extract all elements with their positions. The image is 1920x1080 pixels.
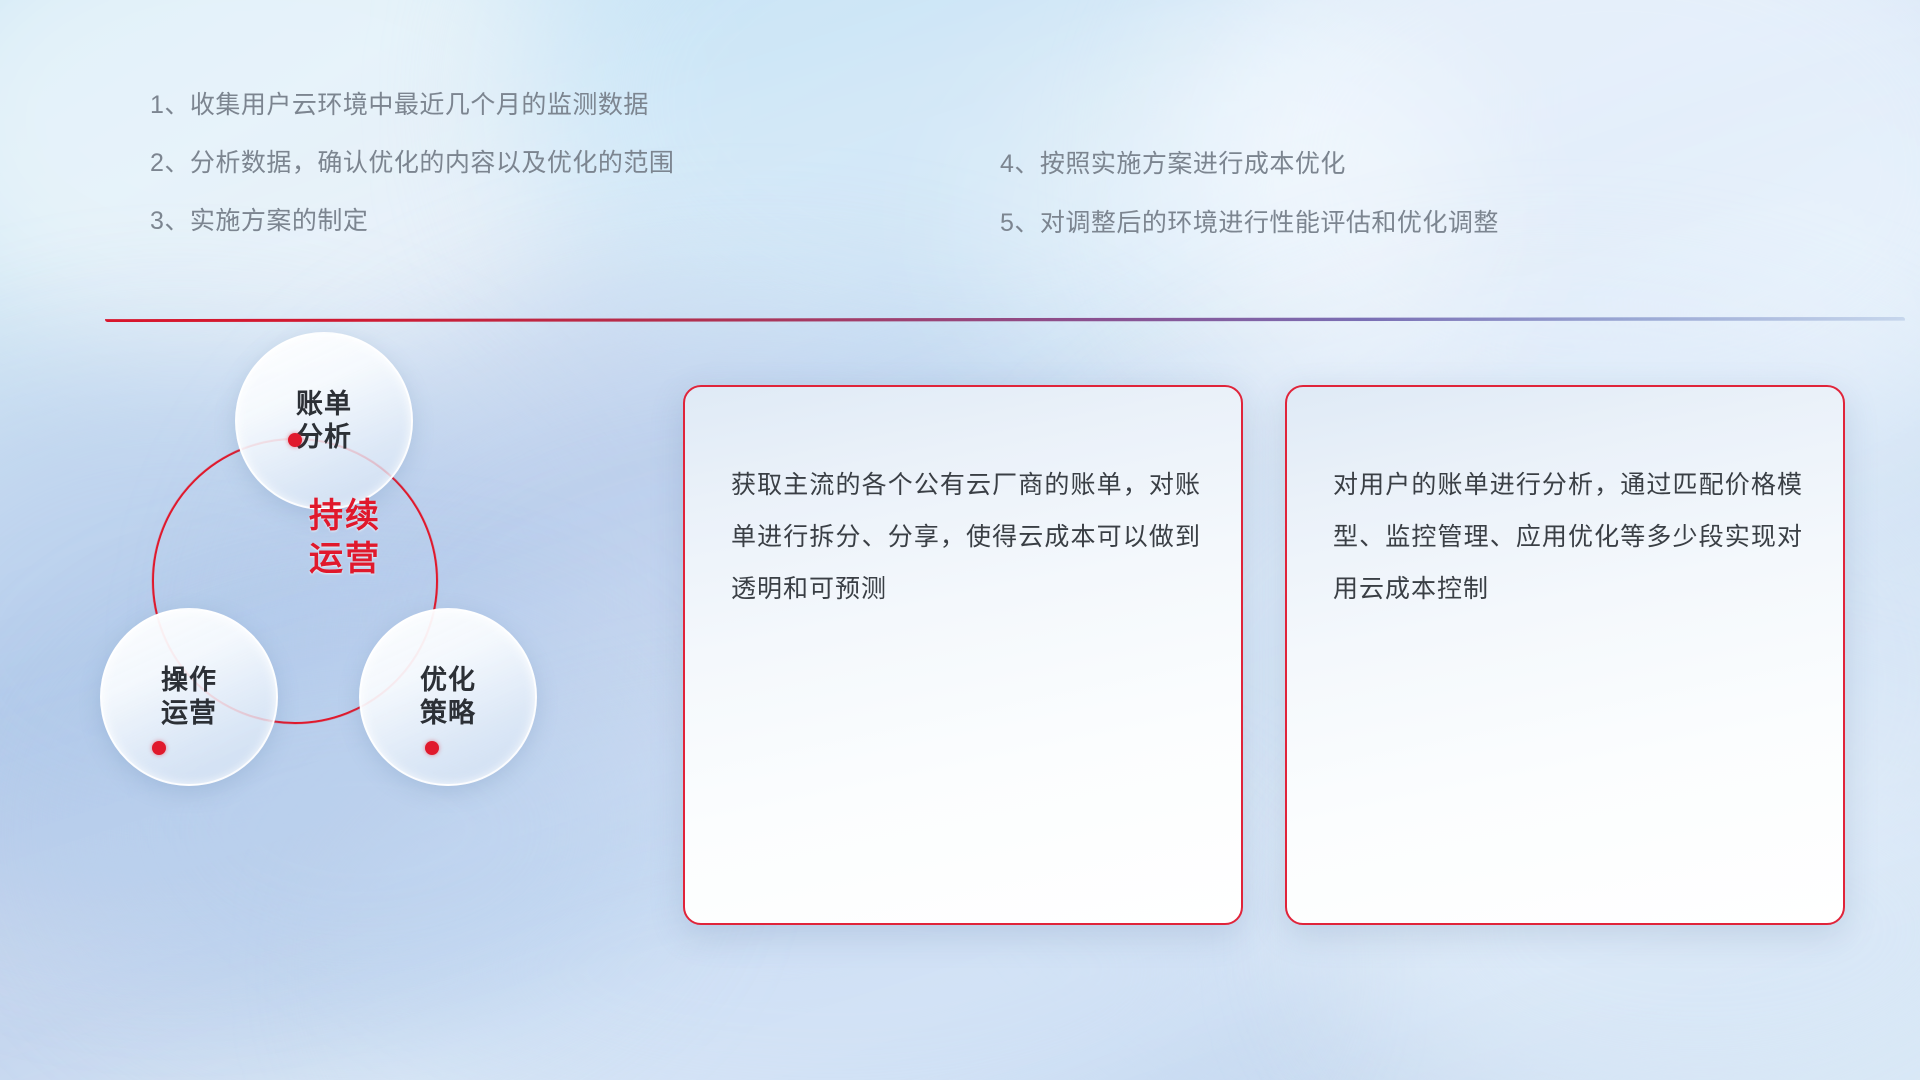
venn-bubble-top[interactable]: 账单 分析 [235, 332, 413, 510]
step-item: 4、按照实施方案进行成本优化 [1000, 152, 1499, 177]
step-item: 1、收集用户云环境中最近几个月的监测数据 [150, 93, 674, 118]
venn-bubble-label-line1: 优化 [420, 665, 476, 695]
step-item: 2、分析数据，确认优化的内容以及优化的范围 [150, 151, 674, 176]
card-multicloud-billing[interactable]: 获取主流的各个公有云厂商的账单，对账单进行拆分、分享，使得云成本可以做到透明和可… [683, 385, 1243, 925]
connector-dot-icon [425, 741, 439, 755]
card-cost-optimization[interactable]: 对用户的账单进行分析，通过匹配价格模型、监控管理、应用优化等多少段实现对用云成本… [1285, 385, 1845, 925]
venn-bubble-label-line2: 分析 [296, 422, 352, 452]
venn-center-label-line1: 持续 [309, 497, 381, 535]
connector-dot-icon [152, 741, 166, 755]
venn-bubble-left[interactable]: 操作 运营 [100, 608, 278, 786]
venn-bubble-label: 优化 策略 [420, 664, 476, 730]
venn-bubble-label-line1: 操作 [161, 665, 217, 695]
card-body-text: 获取主流的各个公有云厂商的账单，对账单进行拆分、分享，使得云成本可以做到透明和可… [731, 459, 1201, 615]
venn-bubble-label-line2: 运营 [161, 698, 217, 728]
step-item: 3、实施方案的制定 [150, 209, 674, 234]
venn-bubble-right[interactable]: 优化 策略 [359, 608, 537, 786]
steps-right-column: 4、按照实施方案进行成本优化 5、对调整后的环境进行性能评估和优化调整 [1000, 152, 1499, 270]
venn-diagram: 账单 分析 操作 运营 优化 策略 持续 运营 [95, 345, 635, 945]
venn-bubble-label: 操作 运营 [161, 664, 217, 730]
venn-bubble-label: 账单 分析 [296, 388, 352, 454]
connector-dot-icon [288, 433, 302, 447]
step-item: 5、对调整后的环境进行性能评估和优化调整 [1000, 211, 1499, 236]
venn-bubble-label-line2: 策略 [420, 698, 476, 728]
venn-bubble-label-line1: 账单 [296, 389, 352, 419]
steps-left-column: 1、收集用户云环境中最近几个月的监测数据 2、分析数据，确认优化的内容以及优化的… [150, 93, 674, 267]
venn-center-label-line2: 运营 [309, 540, 381, 578]
card-body-text: 对用户的账单进行分析，通过匹配价格模型、监控管理、应用优化等多少段实现对用云成本… [1333, 459, 1803, 615]
venn-center-label: 持续 运营 [250, 495, 440, 580]
